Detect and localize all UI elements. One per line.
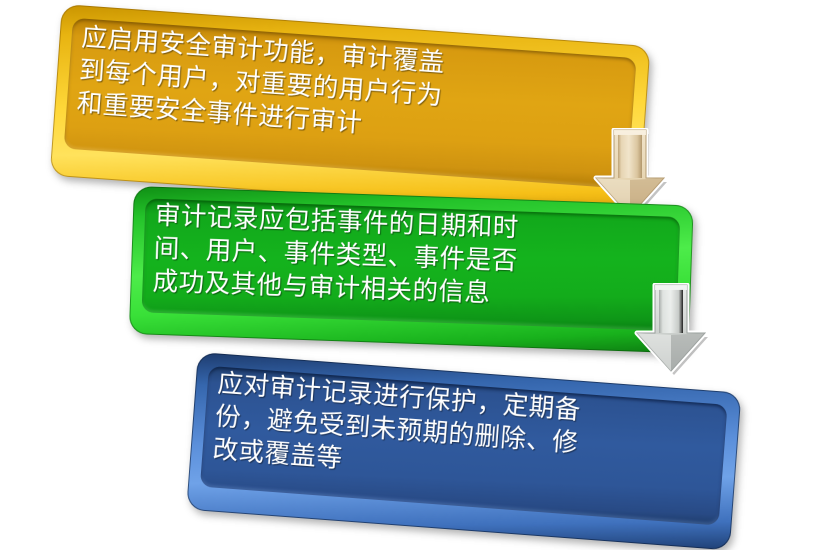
arrow-green-to-blue [633, 283, 709, 375]
process-step-2-green-box[interactable]: 审计记录应包括事件的日期和时 间、用户、事件类型、事件是否 成功及其他与审计相关… [129, 186, 694, 353]
green-box-text: 审计记录应包括事件的日期和时 间、用户、事件类型、事件是否 成功及其他与审计相关… [130, 186, 694, 317]
down-arrow-icon [633, 283, 709, 375]
process-step-3-blue-box[interactable]: 应对审计记录进行保护，定期备 份，避免受到未预期的删除、修 改或覆盖等 [186, 352, 741, 550]
slide-canvas: 应启用安全审计功能，审计覆盖 到每个用户，对重要的用户行为 和重要安全事件进行审… [0, 0, 816, 524]
